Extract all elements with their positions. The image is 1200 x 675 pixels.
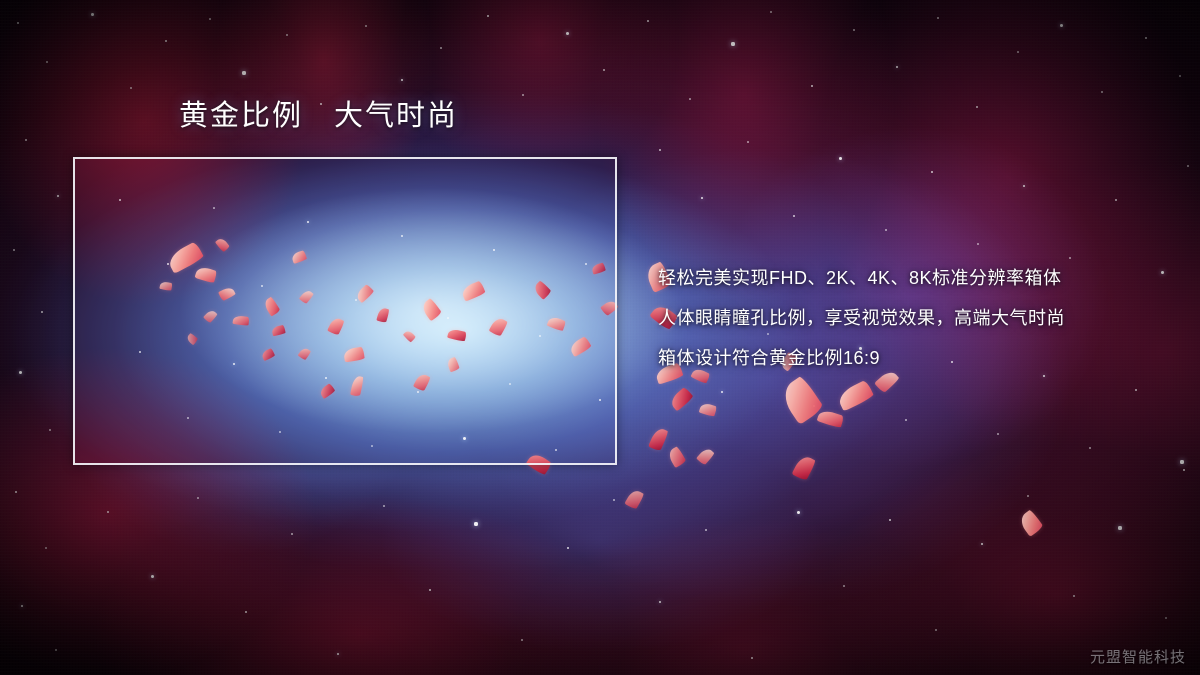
star-dot	[1118, 526, 1121, 529]
star-dot	[997, 433, 999, 435]
star-dot	[981, 543, 984, 546]
star-dot	[151, 575, 154, 578]
star-dot	[57, 195, 60, 198]
star-dot	[1187, 165, 1189, 167]
star-dot	[731, 42, 734, 45]
petal-shape	[1017, 509, 1044, 537]
product-photo-frame[interactable]	[73, 157, 617, 465]
petal-shape	[403, 329, 416, 343]
feature-line-2: 人体眼睛瞳孔比例，享受视觉效果，高端大气时尚	[658, 298, 1178, 338]
petal-shape	[460, 280, 486, 301]
petal-shape	[666, 446, 686, 468]
star-dot	[41, 311, 43, 313]
star-dot	[1145, 37, 1148, 40]
page-title: 黄金比例 大气时尚	[179, 101, 458, 133]
star-dot	[721, 391, 724, 394]
star-dot	[797, 511, 800, 514]
petal-shape	[648, 426, 669, 451]
photo-petals	[73, 157, 617, 465]
star-dot	[91, 13, 94, 16]
star-dot	[1165, 617, 1167, 619]
petal-shape	[350, 375, 364, 397]
star-dot	[843, 585, 845, 587]
star-dot	[286, 34, 288, 36]
petal-shape	[318, 383, 335, 399]
star-dot	[659, 601, 662, 604]
petal-shape	[413, 372, 431, 392]
star-dot	[291, 533, 293, 535]
petal-shape	[668, 387, 694, 412]
star-dot	[1183, 469, 1186, 472]
petal-shape	[836, 380, 875, 412]
petal-shape	[262, 296, 280, 316]
star-dot	[937, 17, 939, 19]
star-dot	[209, 18, 211, 20]
petal-shape	[792, 454, 817, 482]
star-dot	[839, 157, 842, 160]
product-photo-image	[73, 157, 617, 465]
feature-description: 轻松完美实现FHD、2K、4K、8K标准分辨率箱体 人体眼睛瞳孔比例，享受视觉效…	[658, 258, 1178, 378]
star-dot	[245, 611, 248, 614]
star-dot	[566, 32, 569, 35]
petal-shape	[215, 237, 230, 253]
petal-shape	[526, 451, 553, 465]
star-dot	[1101, 91, 1103, 93]
star-dot	[603, 69, 605, 71]
petal-shape	[355, 284, 375, 304]
star-dot	[522, 94, 524, 96]
petal-shape	[291, 250, 307, 264]
star-dot	[1180, 460, 1183, 463]
star-dot	[365, 25, 367, 27]
star-dot	[521, 639, 523, 641]
star-dot	[889, 519, 892, 522]
petal-shape	[696, 446, 715, 465]
star-dot	[977, 243, 979, 245]
petal-shape	[298, 346, 312, 360]
star-dot	[931, 171, 934, 174]
star-dot	[885, 229, 887, 231]
star-dot	[13, 249, 15, 251]
feature-line-3: 箱体设计符合黄金比例16:9	[658, 338, 1178, 378]
star-dot	[487, 15, 490, 18]
star-dot	[747, 141, 749, 143]
star-dot	[905, 419, 907, 421]
feature-line-1: 轻松完美实现FHD、2K、4K、8K标准分辨率箱体	[658, 258, 1178, 298]
star-dot	[751, 657, 753, 659]
star-dot	[19, 371, 22, 374]
star-dot	[1027, 495, 1029, 497]
star-dot	[567, 547, 570, 550]
petal-shape	[489, 316, 509, 337]
star-dot	[1089, 447, 1091, 449]
star-dot	[793, 215, 795, 217]
star-dot	[647, 20, 649, 22]
star-dot	[49, 429, 51, 431]
petal-shape	[194, 265, 217, 284]
star-dot	[811, 85, 814, 88]
star-dot	[1179, 75, 1181, 77]
petal-shape	[446, 357, 460, 373]
presentation-slide: 黄金比例 大气时尚 轻松完美实现FHD、2K、4K、8K标准分辨率箱体 人体眼睛…	[0, 0, 1200, 675]
petal-shape	[624, 488, 644, 510]
star-dot	[21, 605, 24, 608]
petal-shape	[159, 281, 172, 291]
star-dot	[401, 79, 404, 82]
petal-shape	[447, 328, 467, 342]
brand-watermark: 元盟智能科技	[1090, 646, 1186, 667]
star-dot	[976, 106, 978, 108]
petal-shape	[232, 315, 249, 326]
petal-shape	[271, 325, 286, 337]
star-dot	[130, 87, 132, 89]
star-dot	[474, 522, 477, 525]
petal-shape	[547, 315, 567, 332]
star-dot	[896, 66, 899, 69]
star-dot	[659, 149, 661, 151]
petal-shape	[203, 309, 218, 324]
star-dot	[197, 497, 199, 499]
petal-shape	[699, 402, 718, 417]
petal-shape	[817, 408, 845, 428]
petal-shape	[186, 333, 199, 346]
star-dot	[337, 653, 340, 656]
petal-shape	[420, 298, 442, 322]
star-dot	[701, 197, 704, 200]
star-dot	[165, 40, 168, 43]
star-dot	[15, 491, 18, 494]
star-dot	[853, 29, 855, 31]
star-dot	[17, 22, 19, 24]
star-dot	[383, 505, 385, 507]
star-dot	[25, 139, 27, 141]
star-dot	[55, 649, 57, 651]
star-dot	[1135, 389, 1137, 391]
star-dot	[46, 61, 48, 63]
petal-shape	[261, 348, 276, 361]
star-dot	[45, 547, 47, 549]
star-dot	[689, 98, 691, 100]
star-dot	[935, 629, 937, 631]
petal-shape	[218, 286, 236, 302]
star-dot	[107, 511, 109, 513]
star-dot	[613, 499, 615, 501]
star-dot	[1073, 595, 1075, 597]
star-dot	[440, 47, 442, 49]
star-dot	[1115, 199, 1117, 201]
star-dot	[1017, 51, 1019, 53]
star-dot	[1023, 185, 1026, 188]
star-dot	[1060, 24, 1063, 27]
star-dot	[429, 589, 431, 591]
petal-shape	[376, 307, 389, 323]
star-dot	[242, 71, 245, 74]
petal-shape	[591, 262, 606, 274]
star-dot	[770, 11, 772, 13]
petal-shape	[299, 289, 314, 305]
petal-shape	[343, 347, 365, 363]
petal-shape	[600, 299, 617, 317]
petal-shape	[532, 280, 552, 300]
petal-shape	[568, 336, 592, 357]
petal-shape	[327, 316, 345, 336]
star-dot	[705, 529, 707, 531]
